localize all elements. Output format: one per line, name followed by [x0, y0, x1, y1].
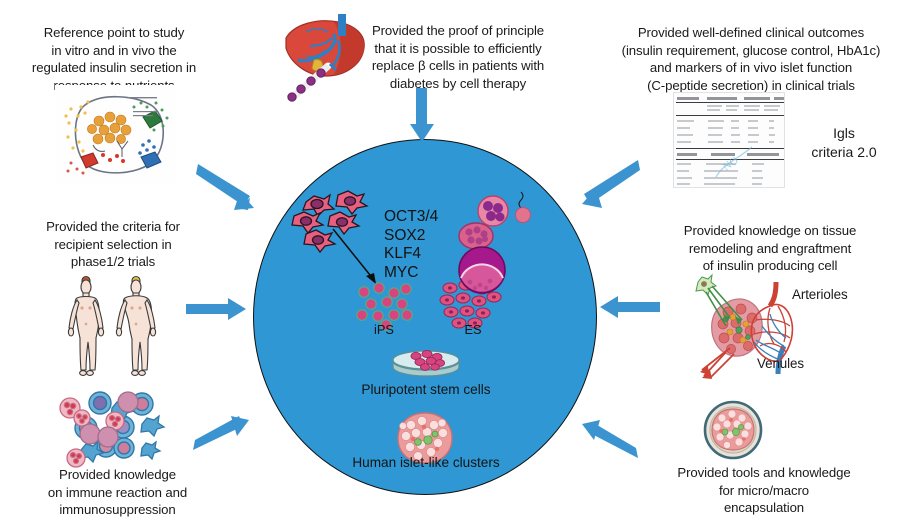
caption-top-center: Provided the proof of principle that it … — [358, 22, 558, 92]
arterioles-label: Arterioles — [792, 286, 892, 304]
caption-top-right: Provided well-defined clinical outcomes … — [605, 24, 897, 94]
clinical-outcomes-table-icon: NO — [673, 92, 785, 188]
arrow-mid-right-to-hub — [598, 294, 660, 320]
immune-cells-icon — [60, 390, 170, 468]
pluripotent-stem-cells-label: Pluripotent stem cells — [340, 382, 512, 397]
reprogramming-factors-label: OCT3/4 SOX2 KLF4 MYC — [384, 208, 438, 282]
caption-mid-right: Provided knowledge on tissue remodeling … — [655, 222, 885, 275]
human-recipient-figures-icon — [52, 272, 172, 382]
liver-with-islets-icon — [276, 10, 376, 110]
figure-canvas: OCT3/4 SOX2 KLF4 MYC — [0, 0, 899, 531]
igls-criteria-label: Igls criteria 2.0 — [796, 124, 892, 162]
es-label: ES — [448, 322, 498, 337]
arrow-top-center-to-hub — [409, 88, 435, 144]
arrow-top-left-to-hub — [196, 162, 268, 218]
encapsulated-islet-icon — [703, 400, 763, 460]
caption-bottom-right: Provided tools and knowledge for micro/m… — [648, 464, 880, 517]
human-islet-like-clusters-label: Human islet-like clusters — [335, 455, 517, 470]
caption-top-left: Reference point to study in vitro and in… — [8, 24, 220, 94]
caption-bottom-left: Provided knowledge on immune reaction an… — [15, 466, 220, 519]
venules-label: Venules — [757, 355, 837, 373]
caption-mid-left: Provided the criteria for recipient sele… — [18, 218, 208, 271]
arrow-mid-left-to-hub — [186, 296, 248, 322]
arrow-bottom-left-to-hub — [193, 416, 255, 458]
arrow-top-right-to-hub — [566, 158, 640, 216]
petri-dish-icon — [391, 343, 461, 379]
ips-label: iPS — [359, 322, 409, 337]
embryo-development-icon — [455, 188, 560, 303]
arrow-bottom-right-to-hub — [574, 418, 640, 462]
beta-cell-insulin-secretion-diagram-icon — [55, 85, 175, 185]
